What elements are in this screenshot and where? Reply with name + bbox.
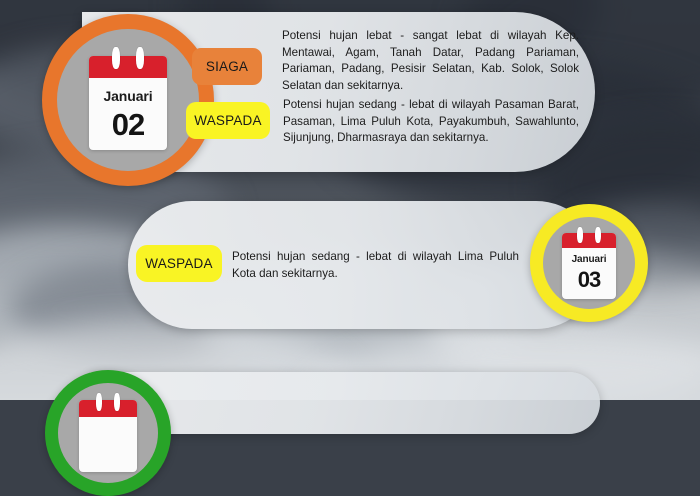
calendar-body — [79, 417, 137, 472]
alert-text-waspada: Potensi hujan sedang - lebat di wilayah … — [283, 97, 579, 147]
calendar-icon: Januari 03 — [562, 233, 616, 299]
calendar-ring-pins — [562, 227, 616, 243]
status-badge-waspada: WASPADA — [186, 102, 270, 139]
calendar-day-label: 02 — [112, 109, 144, 140]
alert-text-siaga: Potensi hujan lebat - sangat lebat di wi… — [282, 28, 579, 94]
calendar-ring-pins — [79, 393, 137, 411]
calendar-day-label: 03 — [578, 269, 600, 291]
calendar-month-label: Januari — [103, 89, 152, 103]
calendar-ring-pins — [89, 47, 167, 69]
calendar-icon — [79, 400, 137, 472]
calendar-pin-icon — [136, 47, 144, 69]
calendar-badge-january-03: Januari 03 — [530, 204, 648, 322]
calendar-pin-icon — [114, 393, 120, 411]
calendar-pin-icon — [577, 227, 583, 243]
calendar-pin-icon — [595, 227, 601, 243]
calendar-pin-icon — [96, 393, 102, 411]
calendar-badge-january-02: Januari 02 — [42, 14, 214, 186]
calendar-body: Januari 03 — [562, 248, 616, 299]
status-badge-waspada: WASPADA — [136, 245, 222, 282]
calendar-pin-icon — [112, 47, 120, 69]
alert-text-waspada: Potensi hujan sedang - lebat di wilayah … — [232, 249, 519, 282]
calendar-icon: Januari 02 — [89, 56, 167, 150]
status-badge-siaga: SIAGA — [192, 48, 262, 85]
calendar-month-label: Januari — [572, 255, 607, 265]
calendar-badge-next — [45, 370, 171, 496]
calendar-body: Januari 02 — [89, 78, 167, 150]
